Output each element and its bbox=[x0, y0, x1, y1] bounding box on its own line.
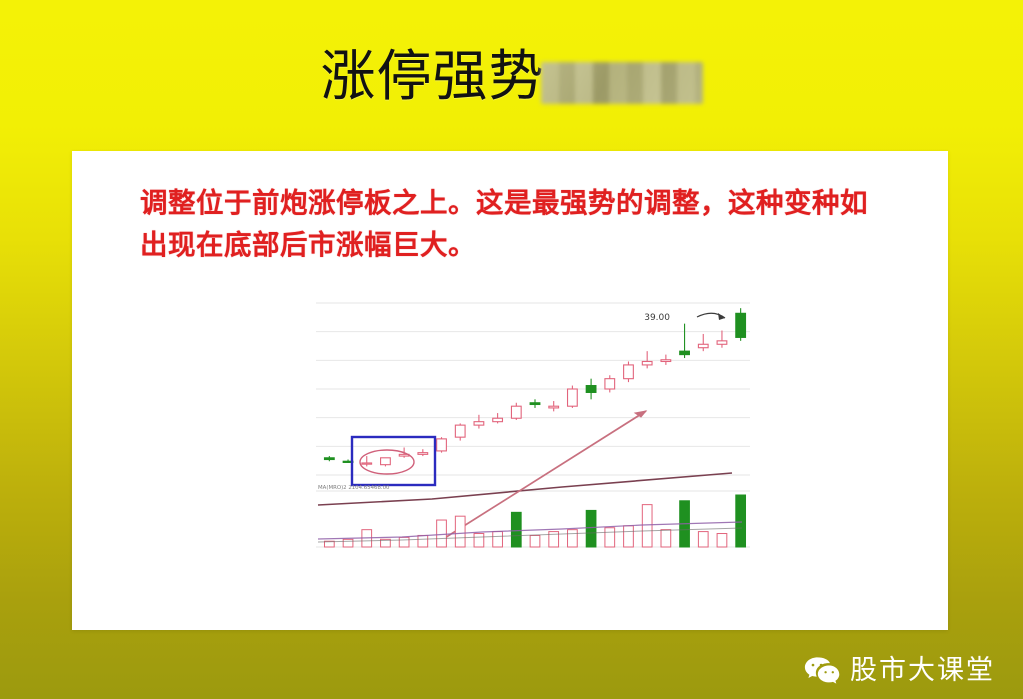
volume-bar bbox=[511, 512, 521, 547]
candle bbox=[698, 344, 708, 347]
body-paragraph: 调整位于前炮涨停板之上。这是最强势的调整，这种变种如出现在底部后市涨幅巨大。 bbox=[140, 183, 880, 267]
candle bbox=[605, 379, 615, 389]
volume-bar bbox=[586, 510, 596, 547]
volume-bar bbox=[530, 535, 540, 547]
candle bbox=[381, 458, 391, 465]
candle bbox=[474, 422, 484, 425]
wechat-icon bbox=[804, 655, 840, 685]
candle bbox=[680, 351, 690, 354]
volume-bar bbox=[455, 516, 465, 547]
candle bbox=[418, 453, 428, 455]
candle bbox=[624, 365, 634, 379]
title-redaction-block bbox=[541, 62, 703, 104]
slide-canvas: 涨停强势 调整位于前炮涨停板之上。这是最强势的调整，这种变种如出现在底部后市涨幅… bbox=[0, 0, 1023, 699]
volume-bar bbox=[661, 530, 671, 547]
content-card: 调整位于前炮涨停板之上。这是最强势的调整，这种变种如出现在底部后市涨幅巨大。 bbox=[72, 151, 948, 630]
candle bbox=[736, 313, 746, 337]
volume-bar bbox=[642, 505, 652, 547]
candle bbox=[568, 389, 578, 406]
candle bbox=[717, 341, 727, 344]
price-annotation-label: 39.00 bbox=[644, 313, 670, 323]
volume-bar bbox=[474, 534, 484, 547]
volume-bar bbox=[624, 526, 634, 547]
volume-bar bbox=[493, 532, 503, 547]
candlestick-chart: 39.00 MA(MRO)2 2104.65468.00 bbox=[312, 289, 754, 551]
candle bbox=[511, 406, 521, 418]
volume-bar bbox=[717, 534, 727, 547]
candle bbox=[530, 403, 540, 405]
volume-bar bbox=[437, 520, 447, 547]
volume-bar bbox=[605, 528, 615, 547]
watermark-label: 股市大课堂 bbox=[850, 657, 995, 684]
candle bbox=[661, 360, 671, 362]
candle bbox=[493, 418, 503, 421]
candle bbox=[324, 458, 334, 460]
chart-svg: 39.00 MA(MRO)2 2104.65468.00 bbox=[312, 289, 754, 551]
volume-bar bbox=[418, 535, 428, 547]
volume-bar bbox=[343, 539, 353, 547]
volume-bar bbox=[698, 532, 708, 547]
candle bbox=[586, 386, 596, 393]
volume-bar bbox=[399, 537, 409, 547]
title-row: 涨停强势 bbox=[0, 36, 1023, 116]
page-title: 涨停强势 bbox=[320, 49, 544, 104]
candle bbox=[455, 425, 465, 437]
candle bbox=[437, 439, 447, 451]
candle bbox=[549, 406, 559, 408]
indicator-label: MA(MRO)2 2104.65468.00 bbox=[318, 485, 390, 491]
candle bbox=[362, 463, 372, 464]
candle bbox=[642, 361, 652, 364]
volume-bar bbox=[736, 495, 746, 547]
volume-bar bbox=[568, 530, 578, 547]
watermark: 股市大课堂 bbox=[804, 655, 995, 685]
